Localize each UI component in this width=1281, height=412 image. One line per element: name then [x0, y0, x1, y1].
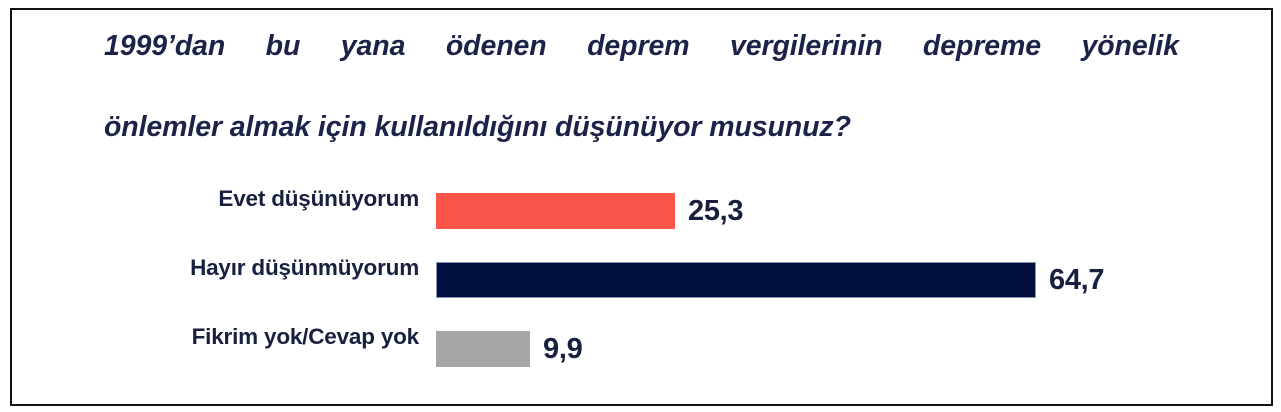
bar-group-hayir: 64,7 — [436, 262, 1104, 298]
bar-label-fikrim-yok: Fikrim yok/Cevap yok — [0, 324, 419, 350]
bar-fikrim-yok — [436, 331, 530, 367]
bar-group-evet: 25,3 — [436, 193, 743, 229]
poll-result-card: 1999’dan bu yana ödenen deprem vergileri… — [0, 0, 1281, 412]
bar-row: Fikrim yok/Cevap yok 9,9 — [0, 313, 1281, 382]
bar-row: Evet düşünüyorum 25,3 — [0, 175, 1281, 244]
bar-evet — [436, 193, 675, 229]
bar-chart: Evet düşünüyorum 25,3 Hayır düşünmüyorum… — [0, 175, 1281, 382]
chart-title: 1999’dan bu yana ödenen deprem vergileri… — [104, 26, 1179, 147]
chart-title-line-2: önlemler almak için kullanıldığını düşün… — [104, 107, 1179, 147]
bar-row: Hayır düşünmüyorum 64,7 — [0, 244, 1281, 313]
bar-value-hayir: 64,7 — [1049, 264, 1104, 297]
bar-label-hayir: Hayır düşünmüyorum — [0, 255, 419, 281]
bar-hayir — [436, 262, 1036, 298]
card-border-bottom — [10, 404, 1273, 406]
bar-value-fikrim-yok: 9,9 — [543, 333, 582, 366]
bar-label-evet: Evet düşünüyorum — [0, 186, 419, 212]
chart-title-line-1: 1999’dan bu yana ödenen deprem vergileri… — [104, 26, 1179, 107]
bar-value-evet: 25,3 — [688, 195, 743, 228]
bar-group-fikrim-yok: 9,9 — [436, 331, 582, 367]
card-border-top — [10, 8, 1273, 10]
